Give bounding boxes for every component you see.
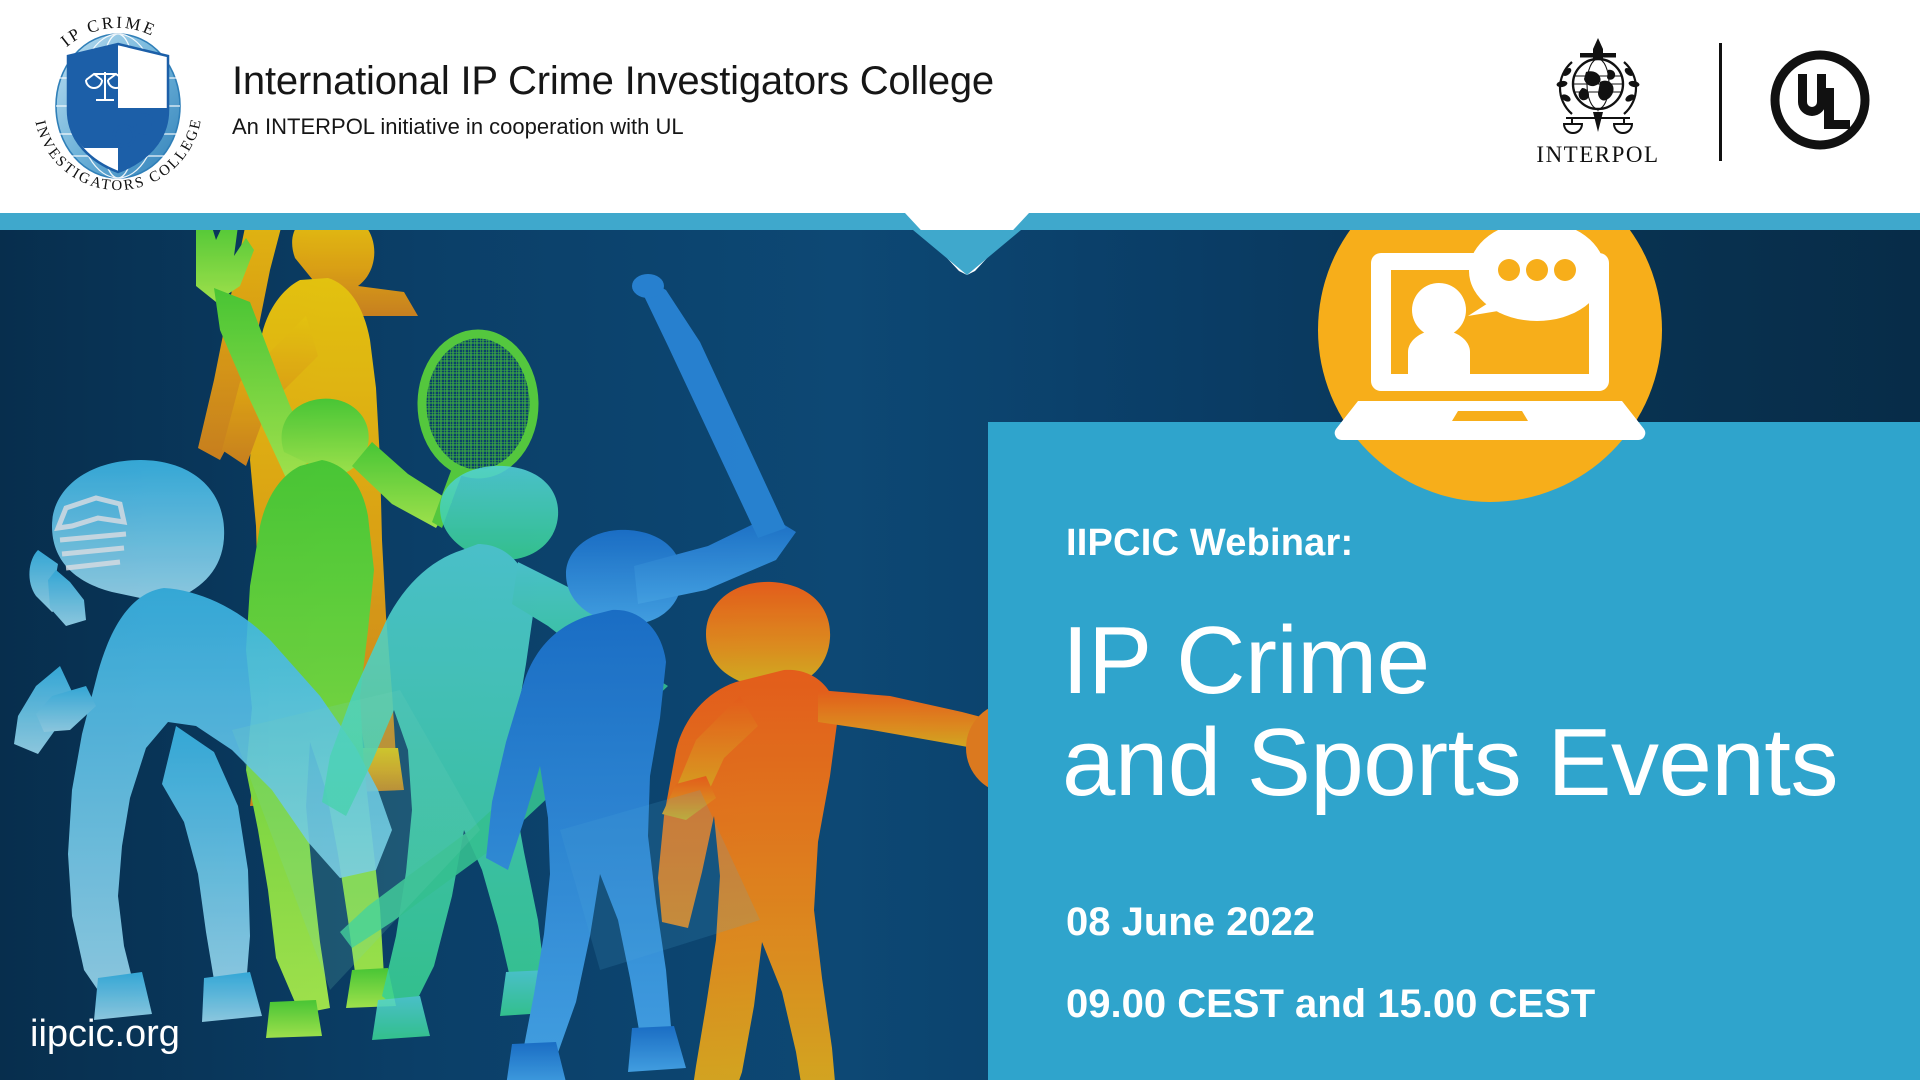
chevron-down-notch bbox=[905, 213, 1029, 275]
page-header: IP CRIME INVESTIGATORS COLLEGE Internati… bbox=[0, 0, 1920, 213]
ul-logo bbox=[1768, 48, 1872, 152]
panel-title-line-1: IP Crime bbox=[1062, 610, 1838, 712]
panel-title: IP Crime and Sports Events bbox=[1062, 610, 1838, 814]
interpol-label: INTERPOL bbox=[1536, 142, 1659, 168]
panel-title-line-2: and Sports Events bbox=[1062, 712, 1838, 814]
partner-logos: INTERPOL bbox=[1513, 32, 1878, 172]
header-text-block: International IP Crime Investigators Col… bbox=[232, 60, 994, 140]
event-date: 08 June 2022 bbox=[1066, 900, 1315, 945]
page-subtitle: An INTERPOL initiative in cooperation wi… bbox=[232, 114, 994, 140]
website-url[interactable]: iipcic.org bbox=[30, 1013, 180, 1056]
interpol-logo bbox=[1542, 36, 1654, 140]
event-time: 09.00 CEST and 15.00 CEST bbox=[1066, 982, 1595, 1027]
panel-eyebrow: IIPCIC Webinar: bbox=[1066, 522, 1353, 565]
webinar-promo-banner: IIPCIC Webinar: IP Crime and Sports Even… bbox=[0, 0, 1920, 1080]
iipcic-seal-logo: IP CRIME INVESTIGATORS COLLEGE bbox=[18, 6, 218, 206]
page-title: International IP Crime Investigators Col… bbox=[232, 60, 994, 102]
interpol-logo-block: INTERPOL bbox=[1513, 36, 1683, 168]
ul-logo-block bbox=[1768, 48, 1878, 157]
header-divider bbox=[1719, 43, 1722, 161]
sports-silhouettes-artwork bbox=[0, 130, 1060, 1080]
